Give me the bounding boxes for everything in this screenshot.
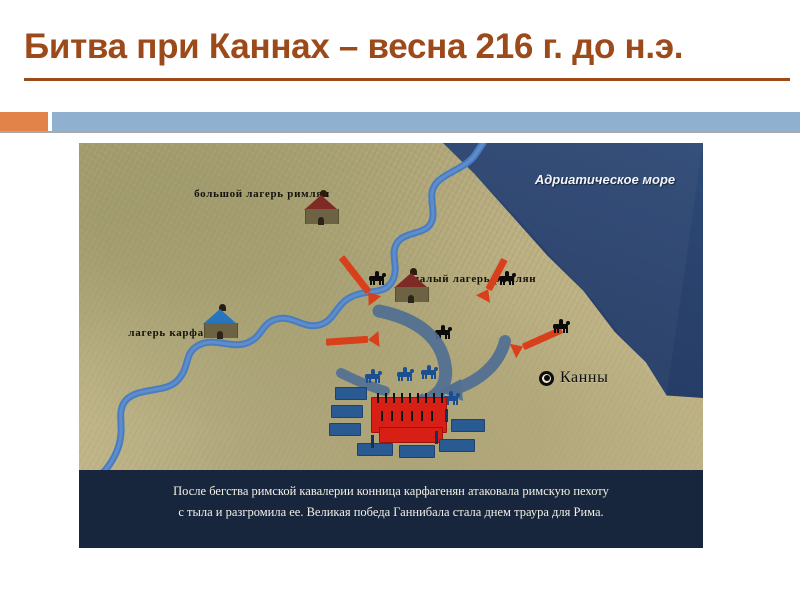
- city-marker-cannae: Канны: [539, 369, 608, 387]
- infantry-carthaginian-left-3: [329, 423, 361, 436]
- cavalry-roman-2-icon: [435, 325, 452, 338]
- page-title: Битва при Каннах – весна 216 г. до н.э.: [24, 28, 790, 67]
- infantry-carthaginian-bottom-2: [399, 445, 435, 458]
- decor-band-blue: [52, 112, 800, 131]
- roman-pike-row: [375, 397, 445, 409]
- cavalry-carthaginian-1-icon: [397, 367, 414, 380]
- decor-band-shadow: [0, 131, 800, 133]
- infantry-carthaginian-right-1: [451, 419, 485, 432]
- infantry-carthaginian-left-2: [331, 405, 363, 418]
- title-underline-rule: [24, 78, 790, 81]
- infantry-carthaginian-left-1: [335, 387, 367, 400]
- label-small-roman-camp: малый лагерь римлян: [409, 271, 539, 288]
- cavalry-carthaginian-3-icon: [365, 369, 382, 382]
- caption-line-2: с тыла и разгромила ее. Великая победа Г…: [95, 502, 687, 523]
- decor-band-orange: [0, 112, 48, 131]
- infantry-carthaginian-bottom-1: [357, 443, 393, 456]
- city-label-cannae: Канны: [560, 369, 608, 387]
- roman-pike-row-2: [379, 415, 441, 427]
- sea-label: Адриатическое море: [525, 171, 685, 190]
- cavalry-roman-3-icon: [499, 271, 516, 284]
- cavalry-roman-1-icon: [369, 271, 386, 284]
- carthaginian-standard-3: [445, 409, 448, 422]
- cavalry-roman-4-icon: [553, 319, 570, 332]
- map-caption: После бегства римской кавалерии конница …: [79, 470, 703, 548]
- infantry-carthaginian-bottom-3: [439, 439, 475, 452]
- infantry-roman-block-lower: [379, 427, 443, 443]
- battle-map: Адриатическое море большой лагерь римлян…: [79, 143, 703, 548]
- carthaginian-standard-2: [435, 431, 438, 444]
- cavalry-carthaginian-2-icon: [421, 365, 438, 378]
- city-bullseye-icon: [539, 371, 554, 386]
- caption-line-1: После бегства римской кавалерии конница …: [95, 481, 687, 502]
- carthaginian-standard-1: [371, 435, 374, 448]
